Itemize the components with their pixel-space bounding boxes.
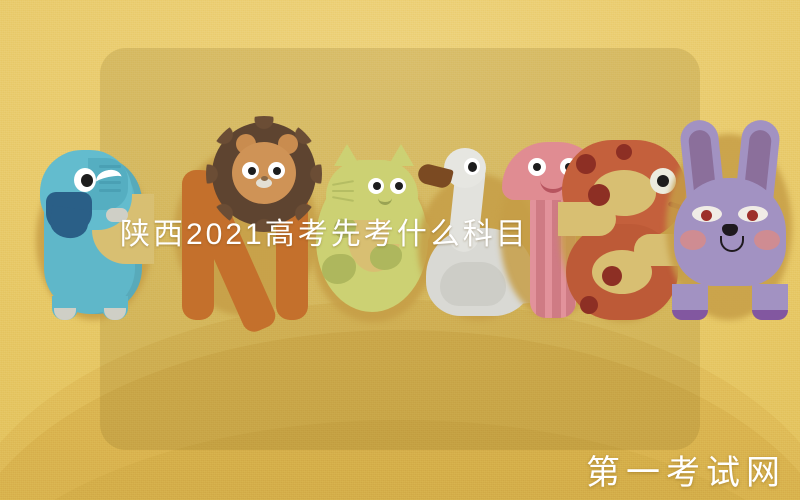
cat-head — [326, 160, 418, 220]
swan-wing — [440, 262, 506, 306]
lion-nose — [261, 176, 268, 181]
mushroom-eye-left-white — [528, 158, 546, 176]
snake-spot-5 — [580, 296, 598, 314]
elephant-leg-left — [52, 296, 78, 320]
elephant-trunk — [46, 192, 92, 234]
lion-face — [232, 142, 296, 204]
rabbit-leg-left — [672, 284, 708, 320]
headline-text: 陕西2021高考先考什么科目 — [120, 214, 680, 256]
lion-eye-left-pupil — [248, 167, 256, 175]
cat-eye-left-pupil — [373, 182, 381, 190]
cat-eye-right-pupil — [395, 182, 403, 190]
snake-spot-2 — [616, 144, 632, 160]
cat-whisker-1 — [332, 180, 354, 186]
rabbit-eye-right — [738, 206, 768, 222]
rabbit-cheek-left — [680, 230, 706, 250]
rabbit-letter — [668, 130, 792, 320]
cat-whisker-3 — [332, 196, 354, 202]
lion-eye-right-pupil — [273, 167, 281, 175]
snake-spot-1 — [576, 154, 596, 174]
cat-whisker-2 — [332, 190, 354, 192]
site-watermark: 第一考试网 — [586, 445, 786, 494]
rabbit-cheek-right — [754, 230, 780, 250]
rabbit-eye-left — [692, 206, 722, 222]
cat-mouth — [378, 194, 392, 205]
elephant-eye-pupil — [81, 174, 93, 187]
rabbit-leg-right — [752, 284, 788, 320]
snake-spot-4 — [602, 266, 622, 286]
mushroom-eye-left-pupil — [533, 163, 541, 171]
swan-eye-pupil — [468, 162, 477, 172]
banner-image: 陕西2021高考先考什么科目 第一考试网 — [0, 0, 800, 500]
snake-spot-3 — [588, 184, 610, 206]
elephant-leg-right — [102, 296, 128, 320]
